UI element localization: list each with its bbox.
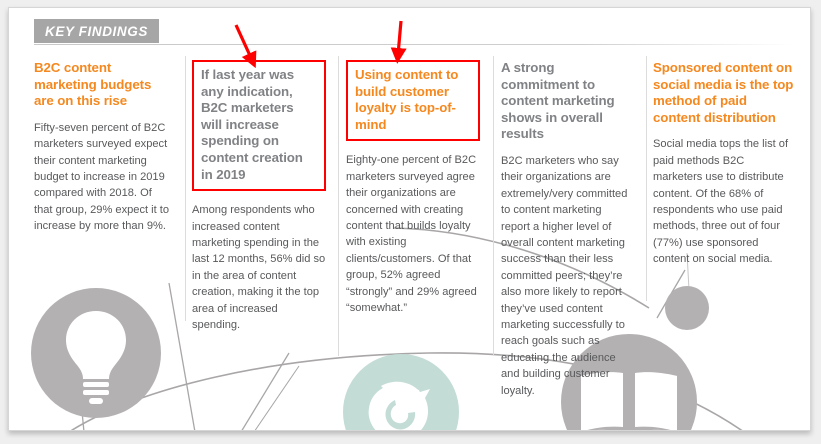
finding-column-4: A strong commitment to content marketing…: [492, 60, 644, 399]
finding-heading-1: B2C content marketing budgets are on thi…: [34, 60, 171, 110]
finding-column-1: B2C content marketing budgets are on thi…: [34, 60, 185, 399]
finding-column-2: If last year was any indication, B2C mar…: [185, 60, 338, 399]
finding-body-4: B2C marketers who say their organization…: [501, 153, 632, 399]
finding-body-2: Among respondents who increased content …: [192, 202, 326, 333]
finding-heading-2: If last year was any indication, B2C mar…: [201, 67, 318, 183]
section-tab-label: KEY FINDINGS: [45, 24, 148, 39]
finding-body-1: Fifty-seven percent of B2C marketers sur…: [34, 120, 171, 235]
finding-heading-3: Using content to build customer loyalty …: [355, 67, 472, 133]
highlight-box-3: Using content to build customer loyalty …: [346, 60, 480, 141]
finding-column-3: Using content to build customer loyalty …: [338, 60, 492, 399]
highlight-box-2: If last year was any indication, B2C mar…: [192, 60, 326, 191]
finding-body-5: Social media tops the list of paid metho…: [653, 136, 794, 267]
key-findings-columns: B2C content marketing budgets are on thi…: [34, 60, 794, 399]
section-tab: KEY FINDINGS: [34, 19, 159, 43]
finding-body-3: Eighty-one percent of B2C marketers surv…: [346, 152, 480, 316]
finding-heading-5: Sponsored content on social media is the…: [653, 60, 794, 126]
finding-column-5: Sponsored content on social media is the…: [644, 60, 794, 399]
page-canvas: KEY FINDINGS B2C content marketing budge…: [8, 7, 811, 431]
header-divider-rule: [34, 44, 794, 45]
finding-heading-4: A strong commitment to content marketing…: [501, 60, 632, 143]
